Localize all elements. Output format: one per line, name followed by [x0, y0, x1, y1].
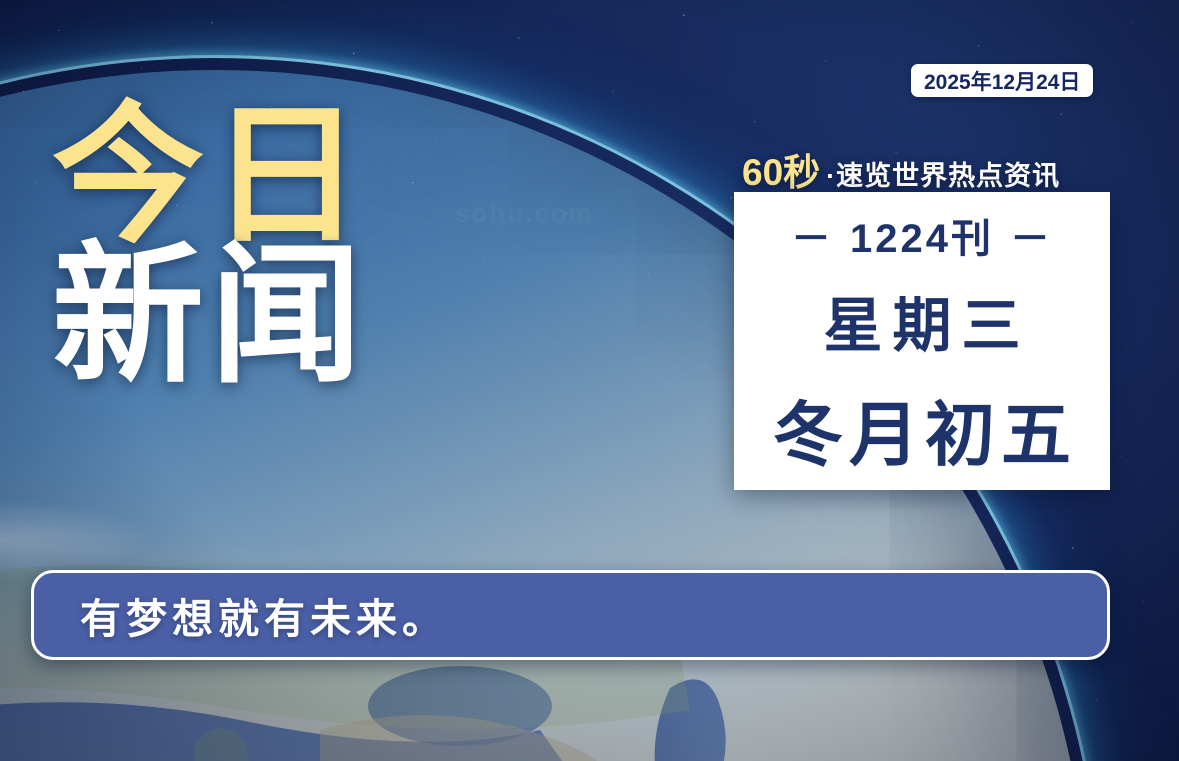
- background-watermark: sohu.com: [455, 198, 594, 229]
- quote-text: 有梦想就有未来。: [80, 585, 448, 645]
- masthead-line-news: 新闻: [52, 244, 368, 390]
- tagline: 60秒 ·速览世界热点资讯: [742, 142, 1060, 196]
- issue-number: 1224刊: [850, 206, 994, 264]
- issue-dash-left: －: [791, 206, 834, 264]
- tagline-seconds: 60秒: [742, 142, 820, 196]
- date-badge: 2025年12月24日: [911, 64, 1093, 97]
- masthead-line-today: 今日: [52, 104, 368, 250]
- issue-line: － 1224刊 －: [791, 206, 1053, 264]
- tagline-rest: ·速览世界热点资讯: [826, 154, 1060, 193]
- issue-dash-right: －: [1010, 206, 1053, 264]
- page-title: 今日 新闻: [52, 104, 368, 390]
- issue-info-card: － 1224刊 － 星期三 冬月初五: [734, 192, 1110, 490]
- weekday-label: 星期三: [813, 278, 1030, 363]
- quote-banner: 有梦想就有未来。: [31, 570, 1110, 660]
- news-poster: sohu.com 今日 新闻 2025年12月24日 60秒 ·速览世界热点资讯…: [0, 0, 1179, 761]
- lunar-date-label: 冬月初五: [767, 379, 1077, 480]
